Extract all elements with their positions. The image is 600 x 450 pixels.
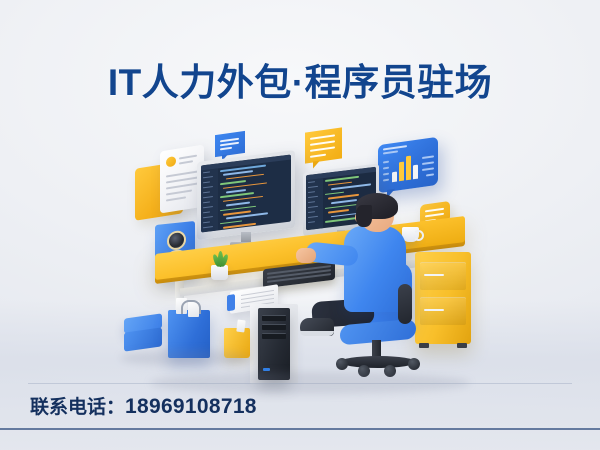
ide-tree-item (308, 216, 318, 219)
footer-divider (0, 428, 600, 430)
ide-tree-item (308, 201, 315, 203)
developer-hair-side (356, 205, 372, 227)
chart-bar (392, 172, 397, 182)
notepad-clip-icon (227, 294, 235, 311)
chart-bars (392, 152, 420, 182)
ide-tree-item (308, 181, 315, 183)
monitor-left (197, 156, 295, 234)
poster-canvas: IT人力外包·程序员驻场 联系电话：18969108718 (0, 0, 600, 450)
ide-tree-item (203, 176, 213, 179)
chart-bar (413, 165, 418, 180)
contact-info: 联系电话：18969108718 (30, 392, 257, 419)
storage-box-bottom (124, 327, 162, 351)
ide-code-line (331, 199, 357, 204)
pc-tower (258, 308, 290, 380)
ide-tree-item (308, 196, 318, 199)
cabinet (415, 252, 471, 344)
chat-bubble-blue-icon (215, 131, 245, 157)
ide-tree-item (203, 226, 213, 229)
ide-file-tree-right (306, 178, 323, 230)
ide-tree-item (203, 171, 210, 173)
developer-hand (296, 248, 316, 263)
contact-label: 联系电话： (30, 397, 125, 418)
developer-torso (344, 226, 406, 312)
ide-file-tree-left (201, 168, 218, 232)
chart-bar (399, 162, 404, 181)
contact-phone[interactable]: 18969108718 (125, 395, 257, 418)
ide-tree-item (203, 221, 210, 223)
ide-tree-item (308, 221, 315, 223)
ide-code-left (220, 162, 289, 228)
chat-bubble-yellow-icon (305, 127, 342, 163)
ide-code-line (220, 180, 246, 185)
ide-tree-item (203, 191, 210, 193)
ide-code-line (328, 209, 349, 213)
ide-tree-item (308, 186, 318, 189)
ide-tree-item (203, 196, 213, 199)
page-title: IT人力外包·程序员驻场 (0, 52, 600, 106)
plant (211, 265, 228, 280)
ide-tree-item (308, 211, 315, 213)
ide-tree-item (308, 191, 315, 193)
ide-tree-item (203, 186, 213, 189)
developer-shoe (300, 318, 334, 336)
ide-code-line (325, 191, 344, 195)
office-chair-base (340, 356, 416, 368)
chart-bar (406, 156, 411, 181)
ide-tree-item (308, 206, 318, 209)
ide-tree-item (203, 211, 210, 213)
chart-card (378, 137, 438, 193)
ide-tree-item (203, 201, 210, 203)
ide-code-line (328, 181, 352, 186)
document-card-avatar-icon (166, 156, 176, 168)
office-chair-armrest (398, 284, 412, 324)
ide-tree-item (203, 216, 213, 219)
ide-tree-item (203, 206, 213, 209)
ide-code-line (220, 220, 242, 224)
monitor-left-screen (201, 154, 291, 232)
contact-divider-top (28, 383, 572, 384)
ide-code-line (226, 202, 250, 207)
ide-tree-item (203, 181, 210, 183)
power-led-icon (263, 368, 270, 371)
ide-code-line (226, 189, 246, 193)
